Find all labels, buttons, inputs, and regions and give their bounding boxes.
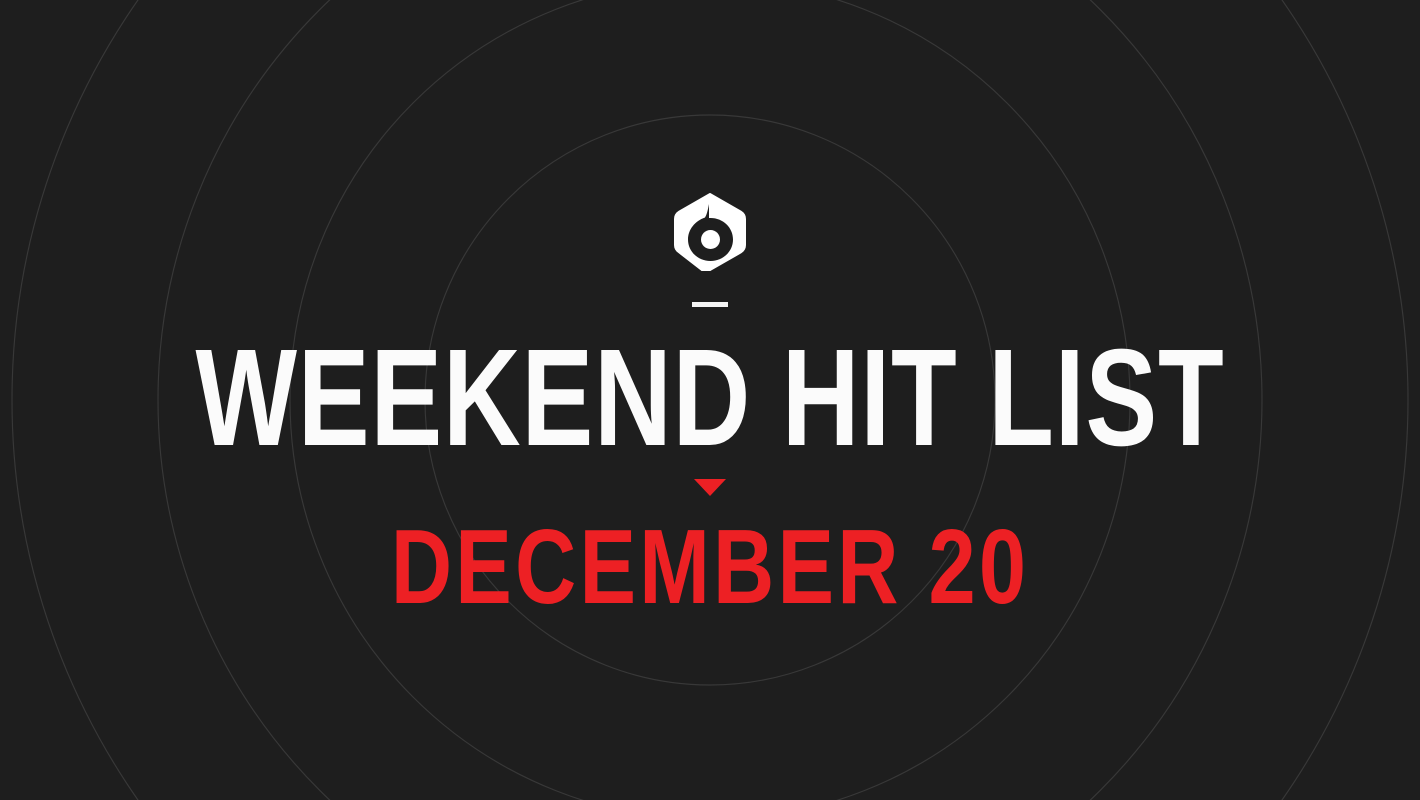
date-label: DECEMBER 20: [142, 514, 1278, 620]
page-title: WEEKEND HIT LIST: [156, 329, 1264, 467]
triangle-down-icon: [694, 479, 726, 496]
horizontal-rule-divider: [692, 302, 728, 307]
hexagon-spiral-logo-icon: [674, 193, 746, 271]
title-card: WEEKEND HIT LIST DECEMBER 20: [0, 0, 1420, 800]
